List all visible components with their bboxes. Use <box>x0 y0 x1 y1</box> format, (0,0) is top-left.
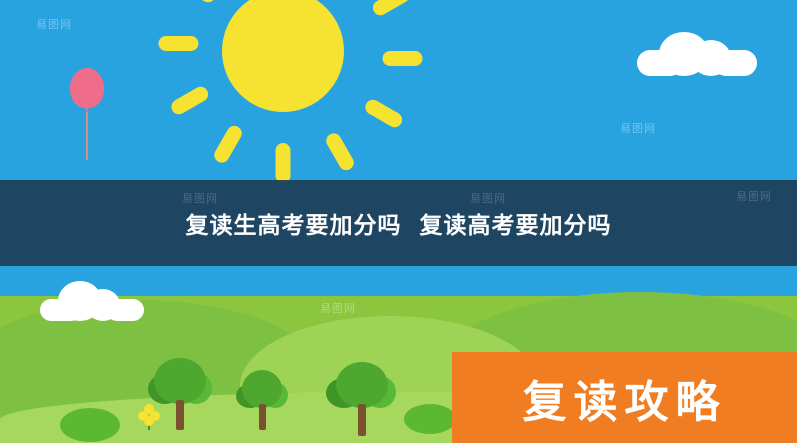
watermark: 易图网 <box>320 300 356 316</box>
flower-icon <box>138 404 160 430</box>
cloud-icon <box>40 281 144 321</box>
illustration-canvas: 易图网 易图网 易图网 易图网 易图网 易图网 复读生高考要加分吗 复读高考要加… <box>0 0 797 443</box>
bush-icon <box>404 404 456 434</box>
page-title: 复读生高考要加分吗 复读高考要加分吗 <box>0 180 797 266</box>
tree-icon <box>236 364 288 430</box>
tree-icon <box>326 356 396 436</box>
watermark: 易图网 <box>620 120 656 136</box>
watermark: 易图网 <box>36 16 72 32</box>
category-badge: 复读攻略 <box>452 352 797 443</box>
cloud-icon <box>637 30 757 76</box>
balloon-icon <box>70 68 104 108</box>
bush-icon <box>60 408 120 442</box>
sun-icon <box>148 0 418 186</box>
category-badge-label: 复读攻略 <box>523 366 727 430</box>
sun-core <box>222 0 344 112</box>
